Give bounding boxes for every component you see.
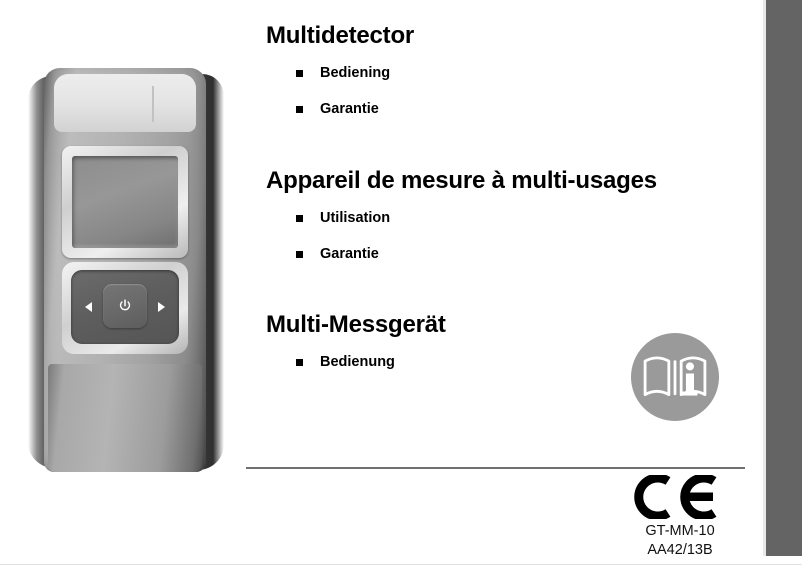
scrollbar-thumb[interactable]: [766, 0, 802, 556]
list-item-label: Bediening: [320, 65, 390, 81]
ce-mark-icon: [628, 475, 720, 519]
device-screen-bezel: [62, 146, 188, 258]
device-body-lower: [48, 364, 202, 472]
bullet-square-icon: [296, 106, 303, 113]
section-bullet-list: Utilisation Garantie: [266, 200, 657, 272]
section-heading: Multi-Messgerät: [266, 310, 446, 340]
list-item: Bedienung: [266, 344, 446, 380]
list-item: Bediening: [266, 55, 414, 91]
list-item: Garantie: [266, 91, 414, 127]
bullet-square-icon: [296, 251, 303, 258]
section-multidetector: Multidetector Bediening Garantie: [266, 21, 414, 127]
device-power-button: [103, 284, 147, 328]
bullet-square-icon: [296, 70, 303, 77]
arrow-left-icon: [85, 302, 92, 312]
list-item: Utilisation: [266, 200, 657, 236]
bullet-square-icon: [296, 215, 303, 222]
device-keypad: [71, 270, 179, 344]
product-device-image: [26, 64, 231, 476]
list-item-label: Garantie: [320, 246, 379, 262]
section-multi-messgeraet: Multi-Messgerät Bedienung: [266, 310, 446, 380]
model-identification: GT-MM-10 AA42/13B: [600, 522, 760, 560]
list-item: Garantie: [266, 236, 657, 272]
device-lcd-screen: [72, 156, 178, 248]
section-heading: Appareil de mesure à multi-usages: [266, 166, 657, 196]
arrow-right-icon: [158, 302, 165, 312]
section-heading: Multidetector: [266, 21, 414, 51]
section-appareil-de-mesure: Appareil de mesure à multi-usages Utilis…: [266, 166, 657, 272]
power-icon: [118, 299, 133, 314]
footer-divider: [246, 467, 745, 469]
model-number: GT-MM-10: [600, 522, 760, 541]
section-bullet-list: Bediening Garantie: [266, 55, 414, 127]
batch-code: AA42/13B: [600, 541, 760, 560]
section-bullet-list: Bedienung: [266, 344, 446, 380]
device-top-cap: [54, 74, 196, 132]
list-item-label: Utilisation: [320, 210, 390, 226]
device-top-seam: [152, 86, 154, 122]
bullet-square-icon: [296, 359, 303, 366]
manual-cover-page: Multidetector Bediening Garantie Apparei…: [0, 0, 802, 565]
read-manual-icon: [631, 333, 719, 421]
list-item-label: Garantie: [320, 101, 379, 117]
list-item-label: Bedienung: [320, 354, 395, 370]
device-keypad-bezel: [62, 262, 188, 354]
